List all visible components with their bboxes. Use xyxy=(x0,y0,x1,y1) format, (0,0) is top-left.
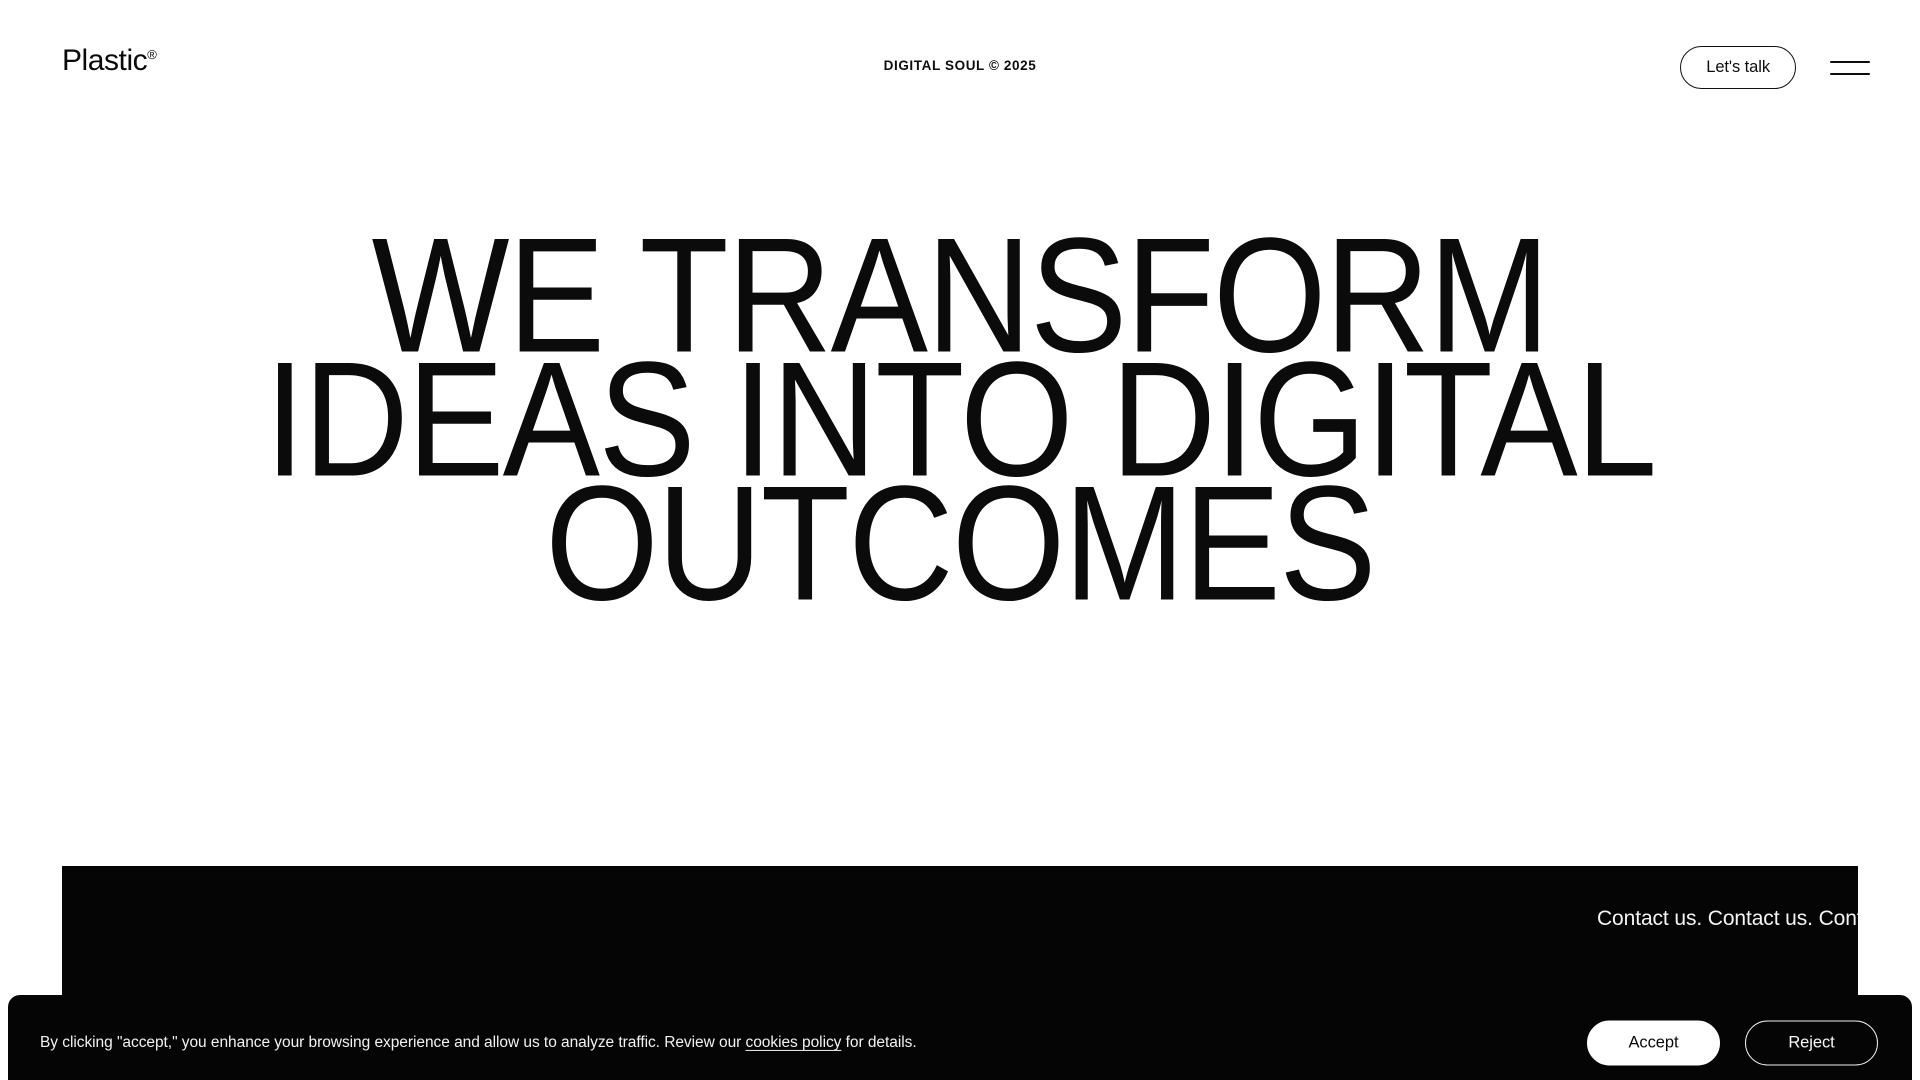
cookie-consent-banner: By clicking "accept," you enhance your b… xyxy=(8,995,1912,1080)
cookie-message-suffix: for details. xyxy=(841,1034,916,1051)
cookie-actions: Accept Reject xyxy=(1587,1021,1878,1066)
reject-label: Reject xyxy=(1788,1034,1834,1053)
cookie-message-prefix: By clicking "accept," you enhance your b… xyxy=(40,1034,746,1051)
menu-line-bottom xyxy=(1830,73,1870,75)
hamburger-menu-icon[interactable] xyxy=(1830,52,1874,84)
menu-line-top xyxy=(1830,61,1870,63)
reject-cookies-button[interactable]: Reject xyxy=(1745,1021,1878,1066)
header-tagline: DIGITAL SOUL © 2025 xyxy=(0,58,1920,73)
page-root: Plastic® DIGITAL SOUL © 2025 Let's talk … xyxy=(0,0,1920,1080)
hero-line-3: OUTCOMES xyxy=(0,474,1920,613)
lets-talk-label: Let's talk xyxy=(1706,58,1770,77)
contact-marquee-track: Contact us. Contact us. Contact us. Cont… xyxy=(1597,866,1858,972)
site-header: Plastic® DIGITAL SOUL © 2025 Let's talk xyxy=(0,0,1920,132)
hero-headline: WE TRANSFORM IDEAS INTO DIGITAL OUTCOMES xyxy=(0,226,1920,598)
accept-label: Accept xyxy=(1628,1034,1678,1053)
cookie-message: By clicking "accept," you enhance your b… xyxy=(40,1033,917,1053)
contact-marquee[interactable]: Contact us. Contact us. Contact us. Cont… xyxy=(62,866,1858,972)
accept-cookies-button[interactable]: Accept xyxy=(1587,1021,1720,1066)
contact-marquee-text: Contact us. Contact us. Contact us. Cont… xyxy=(1597,907,1858,931)
lets-talk-button[interactable]: Let's talk xyxy=(1680,46,1796,89)
cookies-policy-link[interactable]: cookies policy xyxy=(746,1034,842,1051)
